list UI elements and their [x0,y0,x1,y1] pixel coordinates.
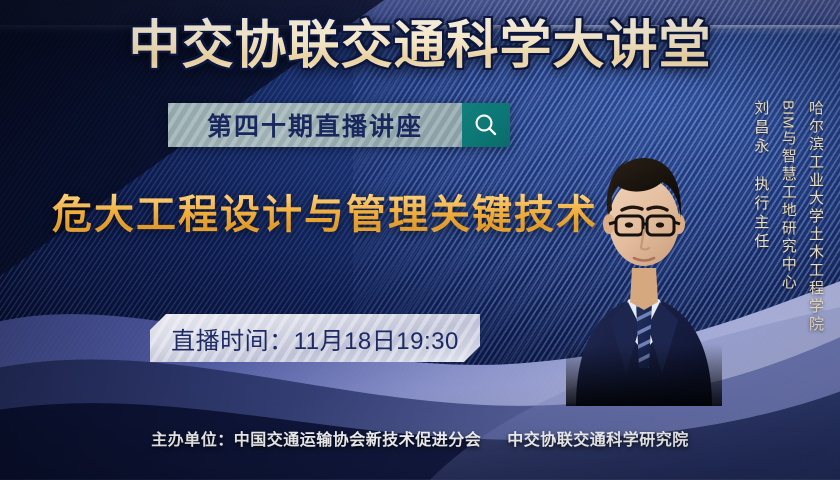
organizer-name-1: 中国交通运输协会新技术促进分会 [234,432,482,449]
speaker-name: 刘昌永 [752,100,769,157]
speaker-portrait [566,106,722,406]
search-icon [473,112,499,138]
speaker-name-title: 刘昌永 执行主任 [750,100,771,252]
search-button[interactable] [462,103,510,147]
live-time-banner: 直播时间：11月18日19:30 [150,314,480,362]
organizer-name-2: 中交协联交通科学研究院 [507,432,689,449]
organizer-prefix: 主办单位： [151,432,234,449]
lecture-title: 危大工程设计与管理关键技术 [52,190,598,240]
speaker-credits: 刘昌永 执行主任 BIM与智慧工地研究中心 哈尔滨工业大学土木工程学院 [750,100,826,334]
poster-canvas: 中交协联交通科学大讲堂 第四十期直播讲座 危大工程设计与管理关键技术 直播时间：… [0,0,840,480]
page-title: 中交协联交通科学大讲堂 [0,17,840,75]
speaker-school: 哈尔滨工业大学土木工程学院 [805,100,826,334]
live-time-label: 直播时间：11月18日19:30 [171,321,459,356]
episode-label-container: 第四十期直播讲座 [168,103,462,147]
episode-label: 第四十期直播讲座 [207,107,423,143]
speaker-title: 执行主任 [752,176,769,252]
organizer-footer: 主办单位：中国交通运输协会新技术促进分会中交协联交通科学研究院 [0,426,840,450]
speaker-research-center: BIM与智慧工地研究中心 [777,100,798,292]
episode-banner: 第四十期直播讲座 [168,103,510,147]
research-center-suffix: 与智慧工地研究中心 [780,130,797,292]
research-center-prefix: BIM [780,100,797,130]
